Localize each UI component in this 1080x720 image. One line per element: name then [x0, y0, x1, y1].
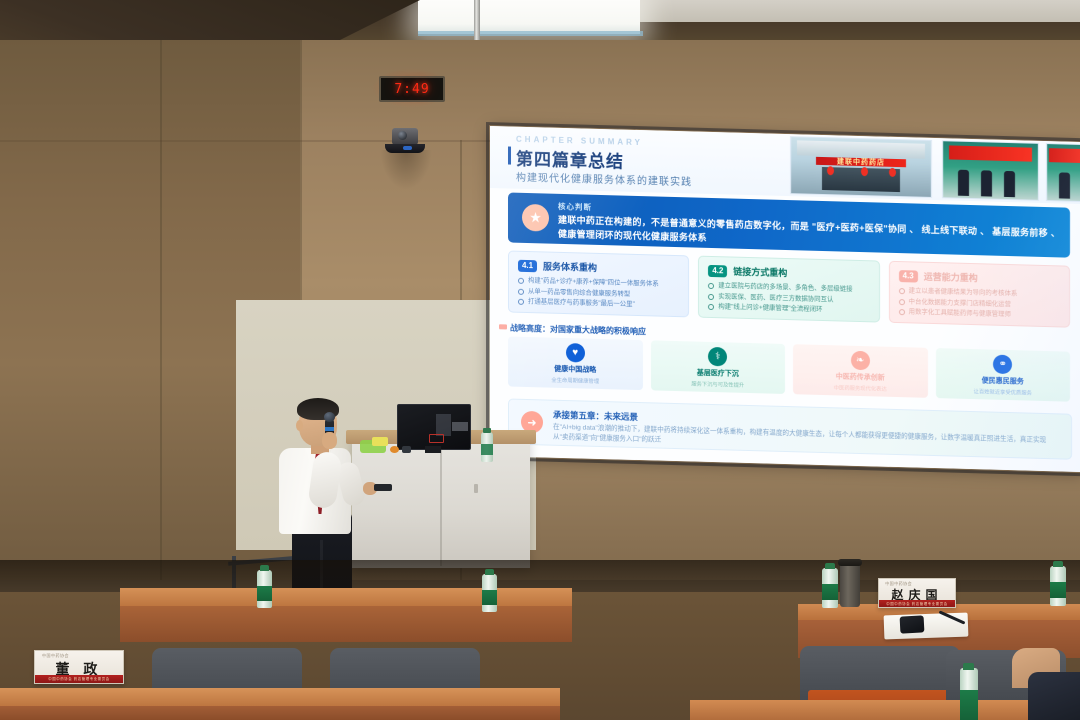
microphone-head-icon [324, 412, 335, 422]
presenter-ear [296, 420, 303, 431]
slide: CHAPTER SUMMARY 第四篇章总结 构建现代化健康服务体系的建联实践 … [490, 126, 1080, 472]
bottle-label [481, 444, 493, 455]
name-placard-right: 中国中药协会 赵庆国 中国中药协会 药店管理专业委员会 [878, 578, 956, 608]
strategy-subtitle: 服务下沉与可及性提升 [691, 379, 744, 388]
crowd-image [1047, 144, 1080, 201]
monitor-stand [425, 446, 441, 453]
card-title: 链接方式重构 [733, 265, 787, 279]
next-chapter-banner: ➜ 承接第五章：未来远景 在"AI+big data"浪潮的推动下，建联中药将持… [508, 398, 1072, 459]
bullet-dot-icon [708, 283, 714, 289]
bullet-dot-icon [899, 288, 905, 294]
restructure-cards: 4.1 服务体系重构 构建"药品+诊疗+康养+保障"四位一体服务体系 从单一药品… [508, 250, 1070, 327]
bullet-dot-icon [518, 299, 524, 305]
podium-item-orange [390, 446, 399, 453]
audience-sleeve [1028, 672, 1080, 720]
photo-pharmacy-storefront: 建联中药药店 [790, 136, 932, 198]
core-insight-label: 核心判断 [558, 201, 592, 213]
placard-footer: 中国中药协会 药店管理专业委员会 [879, 600, 955, 607]
smartphone [900, 615, 925, 633]
bottle-cap [825, 563, 835, 569]
tea-cup [840, 563, 860, 607]
card-header: 4.2 链接方式重构 [708, 264, 869, 281]
bullet-dot-icon [708, 293, 714, 299]
bottle-cap [1053, 561, 1063, 567]
led-clock: 7:49 [379, 76, 445, 102]
bottle-cap [485, 569, 494, 575]
clinic-icon: ⚕ [708, 346, 727, 366]
card-badge: 4.1 [518, 259, 537, 272]
bullet-dot-icon [518, 288, 524, 294]
event-person [1059, 172, 1070, 198]
card-title: 服务体系重构 [543, 259, 597, 273]
strategy-marker-icon [499, 324, 507, 329]
strategy-card-health-china[interactable]: ♥ 健康中国战略 全生命周期健康管理 [508, 336, 643, 390]
ceiling-light-secondary [640, 0, 1080, 22]
next-chapter-text: 在"AI+big data"浪潮的推动下，建联中药将持续深化这一体系重构，构建有… [553, 423, 1058, 457]
camera-shadow [380, 150, 432, 190]
ceiling-light-edge [418, 31, 643, 36]
strategy-title: 基层医疗下沉 [697, 367, 739, 378]
strategy-card-tcm[interactable]: ❧ 中医药传承创新 中医药服务现代化表达 [793, 344, 928, 398]
event-person [981, 170, 992, 196]
placard-footer-text: 中国中药协会 药店管理专业委员会 [35, 675, 123, 683]
lectern-seam [440, 448, 442, 566]
ceiling-light-panel [418, 0, 640, 34]
strategy-card-public-benefit[interactable]: ⚭ 便民惠民服务 让百姓就近享受优质服务 [936, 348, 1071, 402]
camera-lens-icon [398, 131, 407, 140]
placard-logo: 中国中药协会 [42, 653, 69, 659]
strategy-card-primary-care[interactable]: ⚕ 基层医疗下沉 服务下沉与可及性提升 [651, 340, 786, 394]
bullet-dot-icon [518, 278, 524, 284]
card-bullet-text: 打通基层医疗与药事服务"最后一公里" [528, 297, 635, 309]
lantern-icon [861, 167, 868, 176]
placard-footer-text: 中国中药协会 药店管理专业委员会 [879, 600, 955, 607]
presentation-clicker [374, 484, 392, 491]
strategy-title: 健康中国战略 [554, 363, 596, 374]
title-accent-bar [508, 146, 511, 164]
strategy-subtitle: 全生命周期健康管理 [551, 375, 599, 384]
bullet-dot-icon [899, 309, 905, 315]
microphone-ring [325, 427, 334, 431]
table-mid-body [120, 604, 572, 642]
event-image [943, 141, 1038, 200]
lectern-lock-icon [474, 484, 478, 493]
tea-cup-lid [838, 559, 862, 566]
table-mid-top [120, 588, 572, 606]
wall-seam [160, 40, 162, 580]
leaf-icon: ❧ [851, 350, 870, 370]
card-4-2[interactable]: 4.2 链接方式重构 建立医院与药店的多场景、多角色、多层级链接 实现医保、医药… [698, 256, 879, 323]
monitor-reflection [436, 414, 451, 436]
bottle-label [822, 584, 838, 600]
bottle-cap [483, 428, 491, 433]
event-banner [949, 146, 1033, 162]
core-insight-banner: ★ 核心判断 建联中药正在构建的，不是普通意义的零售药店数字化，而是 "医疗+医… [508, 192, 1070, 257]
card-header: 4.1 服务体系重构 [518, 259, 679, 276]
table-front-right-top [690, 700, 1080, 720]
camera-led-icon [403, 146, 412, 150]
placard-footer: 中国中药协会 药店管理专业委员会 [35, 675, 123, 683]
star-icon: ★ [522, 204, 549, 232]
bottle-label [1050, 582, 1066, 598]
card-4-3[interactable]: 4.3 运营能力重构 建立以患者健康结果为导向的考核体系 中台化数据能力支撑门店… [889, 261, 1070, 328]
card-badge: 4.2 [708, 264, 727, 277]
core-insight-text: 建联中药正在构建的，不是普通意义的零售药店数字化，而是 "医疗+医药+医保"协同… [558, 213, 1063, 255]
led-clock-value: 7:49 [381, 78, 443, 100]
bottle-label [482, 590, 497, 605]
card-header: 4.3 运营能力重构 [899, 269, 1060, 286]
strategy-title: 便民惠民服务 [982, 375, 1024, 386]
card-bullet-text: 用数字化工具赋能药师与健康管理师 [909, 307, 1011, 319]
monitor-label [452, 422, 468, 431]
card-badge: 4.3 [899, 270, 918, 283]
strategy-subtitle: 中医药服务现代化表达 [834, 383, 887, 392]
strategy-subtitle: 让百姓就近享受优质服务 [974, 387, 1032, 397]
storefront-image: 建联中药药店 [791, 137, 931, 197]
table-front-top [0, 688, 560, 706]
podium-item-dark [402, 446, 411, 453]
bottle-cap [963, 663, 974, 670]
event-person [958, 169, 969, 195]
strategy-section-label: 战略高度：对国家重大战略的积极响应 [510, 323, 646, 338]
bullet-dot-icon [708, 304, 714, 310]
lantern-icon [889, 168, 896, 177]
event-person [1004, 171, 1015, 197]
card-4-1[interactable]: 4.1 服务体系重构 构建"药品+诊疗+康养+保障"四位一体服务体系 从单一药品… [508, 250, 689, 317]
bullet-dot-icon [899, 299, 905, 305]
presenter-left-hand [322, 432, 337, 449]
conference-room-scene: 7:49 CHAPTER SUMMARY 第四篇章总结 构建现代化健康服务体系的… [0, 0, 1080, 720]
heart-icon: ♥ [566, 343, 585, 363]
link-icon: ⚭ [993, 354, 1012, 374]
bottle-cap [260, 565, 269, 571]
bottle-label [257, 586, 272, 601]
photo-event-ceremony [942, 140, 1039, 201]
photo-event-crowd [1046, 143, 1080, 202]
name-placard-front-left: 中国中药协会 董 政 中国中药协会 药店管理专业委员会 [34, 650, 124, 684]
bottle-label [960, 690, 978, 720]
strategy-title: 中医药传承创新 [836, 371, 885, 382]
next-chapter-title: 承接第五章：未来远景 [553, 409, 638, 423]
event-banner [1049, 149, 1080, 163]
monitor-badge-icon [429, 434, 444, 443]
sticky-notes [372, 437, 388, 446]
projection-screen: CHAPTER SUMMARY 第四篇章总结 构建现代化健康服务体系的建联实践 … [490, 126, 1080, 472]
strategy-cards: ♥ 健康中国战略 全生命周期健康管理 ⚕ 基层医疗下沉 服务下沉与可及性提升 ❧… [508, 336, 1070, 401]
card-title: 运营能力重构 [924, 270, 978, 284]
card-bullet-text: 构建"线上问诊+健康管理"全流程闭环 [718, 302, 822, 314]
